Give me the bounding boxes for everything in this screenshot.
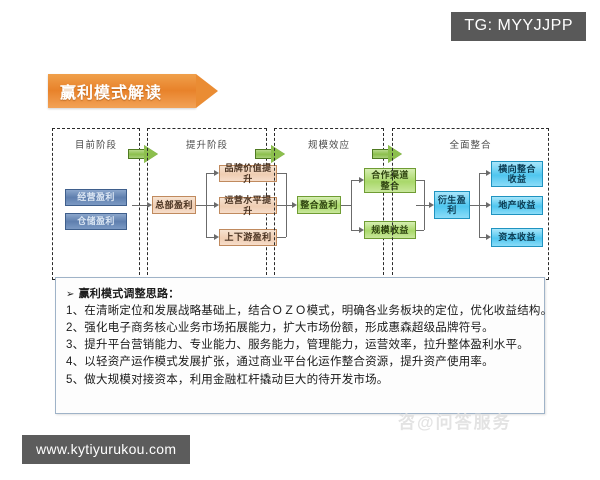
node-property-revenue[interactable]: 地产收益 [491,196,543,215]
notes-line-5: 5、做大规模对接资本，利用金融杠杆撬动巨大的待开发市场。 [66,372,534,389]
node-warehouse-profit[interactable]: 仓储盈利 [65,213,127,230]
phase-label-2: 提升阶段 [148,137,266,151]
phase-label-3: 规模效应 [275,137,383,151]
node-upstream-downstream-profit[interactable]: 上下游盈利 [219,229,277,246]
notes-line-1: 1、在清晰定位和发展战略基础上，结合ＯＺＯ模式，明确各业务板块的定位，优化收益结… [66,303,534,320]
watermark: 咨@问答服务 [398,408,512,433]
connector-line [470,205,479,206]
node-horizontal-integration-revenue[interactable]: 横向整合收益 [491,161,543,187]
notes-line-4: 4、以轻资产运作模式发展扩张，通过商业平台化运作整合资源，提升资产使用率。 [66,354,534,371]
notes-heading: ➢赢利模式调整思路： [66,286,534,303]
banner-arrow-tip [196,74,218,108]
phase-label-4: 全面整合 [393,137,548,151]
notes-heading-text: 赢利模式调整思路： [79,288,180,300]
site-url-badge: www.kytiyurukou.com [22,435,190,464]
node-integration-profit[interactable]: 整合盈利 [297,196,341,214]
node-headquarters-profit[interactable]: 总部盈利 [152,196,196,214]
profit-model-diagram: 目前阶段 经营盈利 仓储盈利 提升阶段 总部盈利 品牌价值提升 运营水平提升 上… [52,128,549,280]
phase-label-1: 目前阶段 [53,137,139,151]
notes-line-2: 2、强化电子商务核心业务市场拓展能力，扩大市场份额，形成惠森超级品牌符号。 [66,320,534,337]
node-operating-profit[interactable]: 经营盈利 [65,189,127,206]
phase-panel-current: 目前阶段 经营盈利 仓储盈利 [52,128,140,280]
connector-line [196,205,206,206]
page-title: 赢利模式解读 [48,79,162,103]
tg-handle-badge: TG: MYYJJPP [451,12,586,41]
connector-line [341,205,351,206]
notes-line-3: 3、提升平台营销能力、专业能力、服务能力，管理能力，运营效率，拉升整体盈利水平。 [66,337,534,354]
node-derivative-profit[interactable]: 衍生盈利 [434,191,470,219]
slide-canvas: TG: MYYJJPP 赢利模式解读 目前阶段 经营盈利 仓储盈利 提升阶段 总… [0,0,600,480]
node-operations-uplift[interactable]: 运营水平提升 [219,197,277,214]
connector-line [351,180,352,230]
bullet-arrow-icon: ➢ [66,289,75,300]
notes-panel: ➢赢利模式调整思路： 1、在清晰定位和发展战略基础上，结合ＯＺＯ模式，明确各业务… [55,277,545,414]
connector-line [132,205,148,206]
node-brand-value-uplift[interactable]: 品牌价值提升 [219,165,277,182]
node-capital-revenue[interactable]: 资本收益 [491,228,543,247]
slide-title-banner: 赢利模式解读 [48,74,196,108]
